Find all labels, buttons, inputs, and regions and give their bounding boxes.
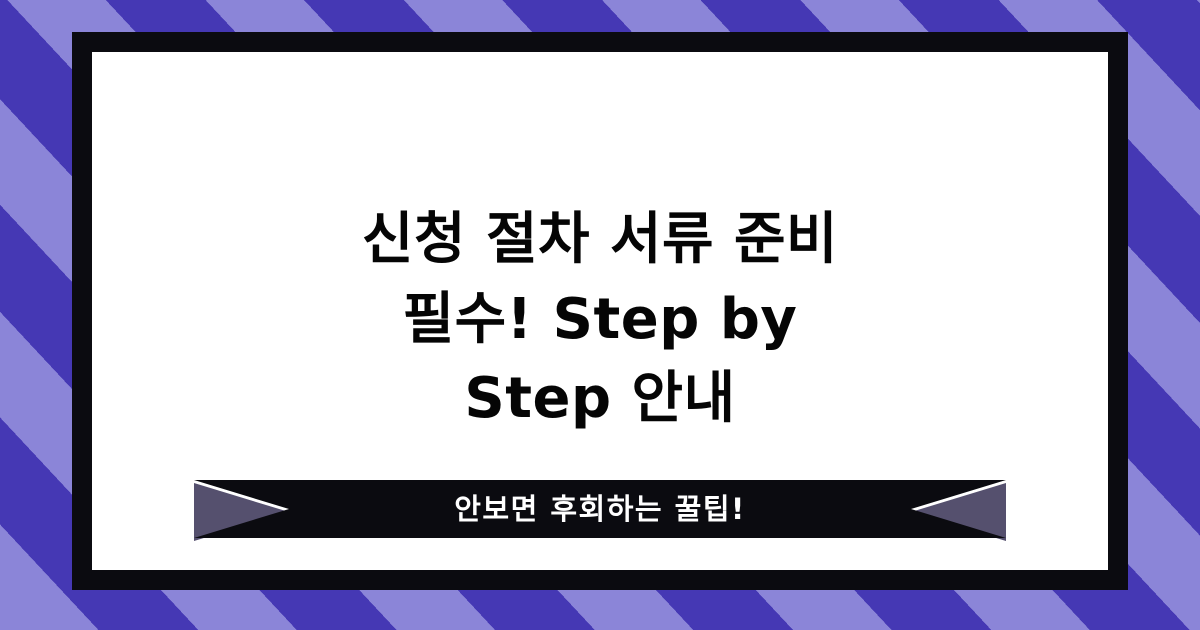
page-title: 신청 절차 서류 준비 필수! Step by Step 안내 [92, 200, 1108, 439]
ribbon-body: 안보면 후회하는 꿀팁! [194, 480, 1006, 538]
ribbon-banner: 안보면 후회하는 꿀팁! [92, 480, 1108, 538]
title-line-1: 신청 절차 서류 준비 [132, 200, 1068, 280]
ribbon-label: 안보면 후회하는 꿀팁! [454, 495, 746, 524]
white-card: 신청 절차 서류 준비 필수! Step by Step 안내 안보면 후회하는… [92, 52, 1108, 570]
poster-canvas: 신청 절차 서류 준비 필수! Step by Step 안내 안보면 후회하는… [0, 0, 1200, 630]
title-line-2: 필수! Step by [132, 280, 1068, 360]
black-picture-frame: 신청 절차 서류 준비 필수! Step by Step 안내 안보면 후회하는… [72, 32, 1128, 590]
title-line-3: Step 안내 [132, 359, 1068, 439]
